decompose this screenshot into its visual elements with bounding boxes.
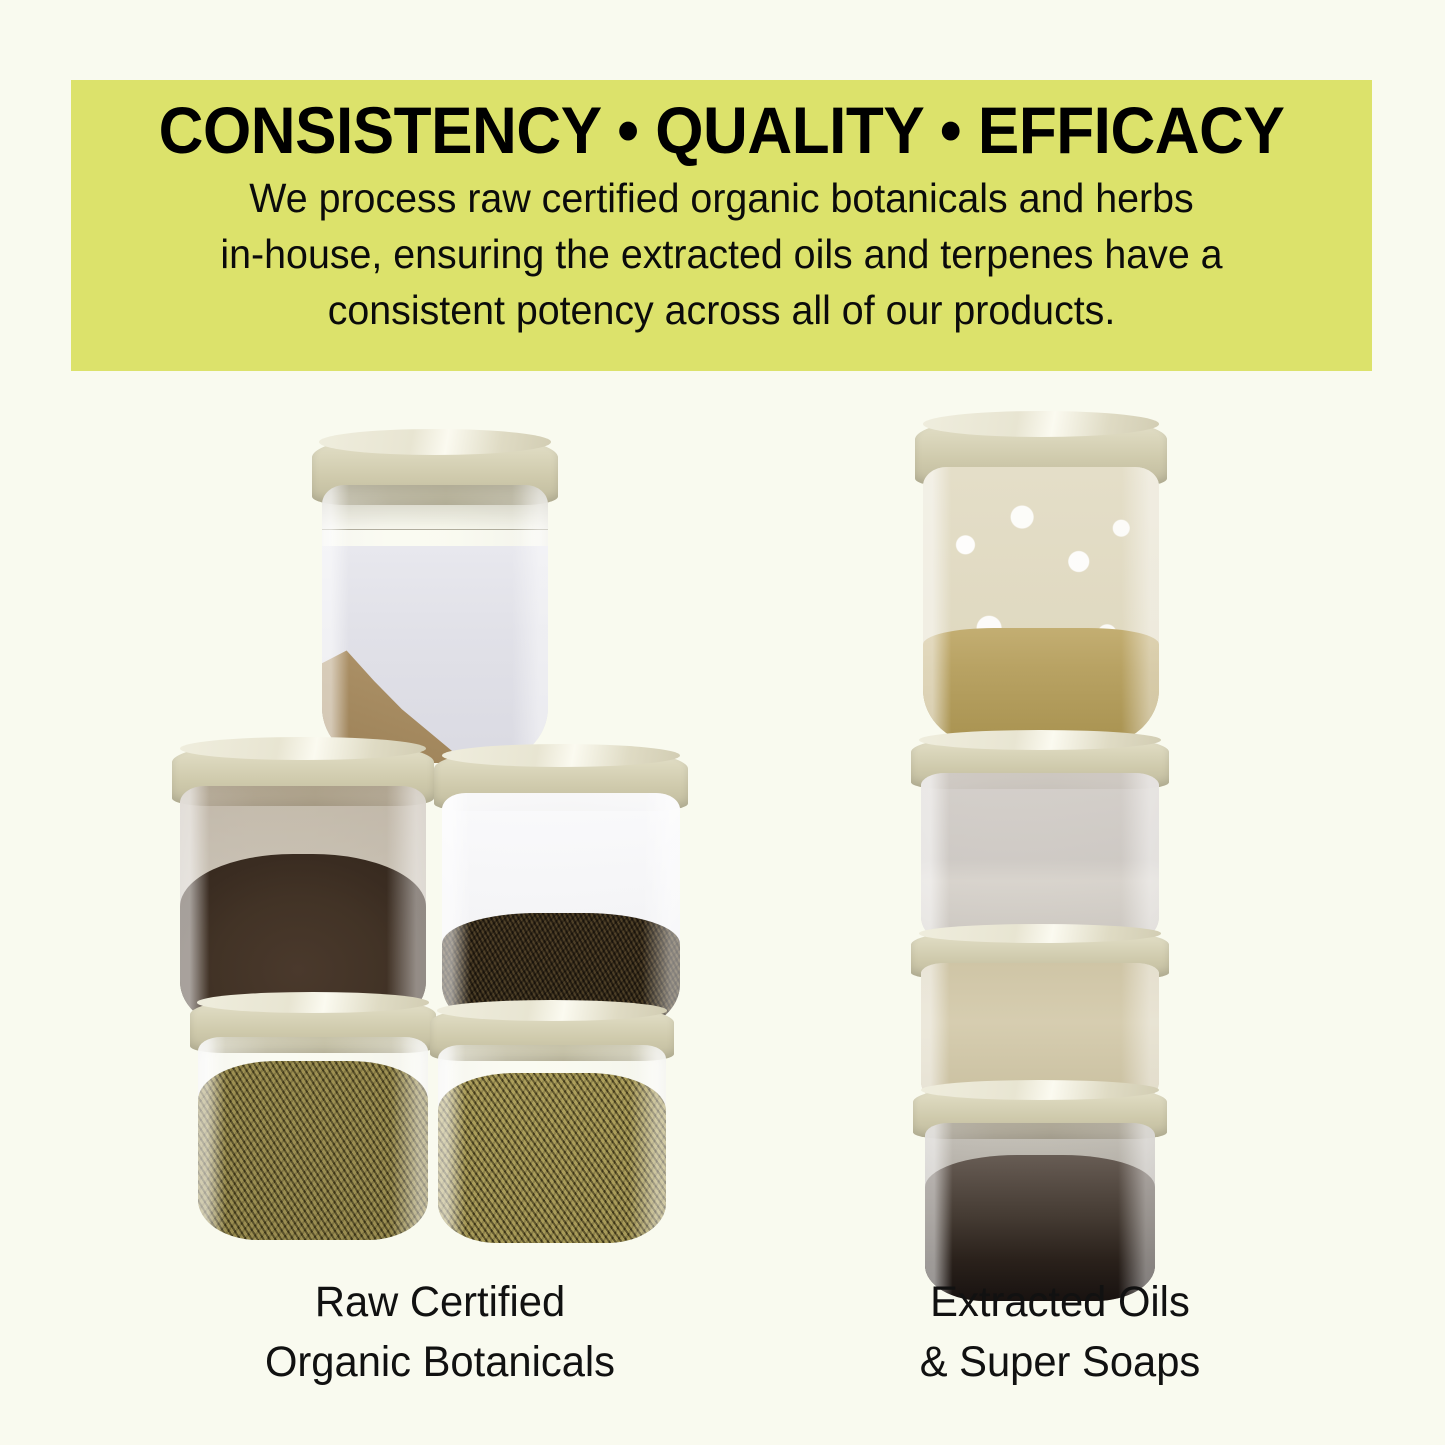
lid-top-surface — [197, 992, 428, 1013]
lid-top-surface — [437, 1000, 666, 1021]
jar-dark-extract — [913, 1083, 1167, 1301]
caption-line-1: Extracted Oils — [769, 1272, 1351, 1332]
jar-neck — [322, 485, 548, 530]
jar-glass — [198, 1037, 428, 1240]
lid-top-surface — [319, 429, 550, 455]
jar-contents-amber-liquid — [923, 628, 1159, 745]
lid-top-surface — [180, 737, 426, 761]
jar-glass — [438, 1045, 666, 1243]
header-banner: CONSISTENCY • QUALITY • EFFICACY We proc… — [71, 80, 1372, 371]
jar-foam-amber — [913, 415, 1169, 745]
jar-glass — [923, 467, 1159, 745]
lid-top-surface — [919, 730, 1162, 750]
jar-contents-rosemary — [438, 1073, 666, 1243]
caption-line-2: & Super Soaps — [769, 1332, 1351, 1392]
lid-top-surface — [921, 1080, 1160, 1100]
caption-extracted-oils: Extracted Oils & Super Soaps — [769, 1272, 1351, 1392]
banner-subtitle-line-3: consistent potency across all of our pro… — [107, 282, 1337, 338]
banner-subtitle-line-2: in-house, ensuring the extracted oils an… — [107, 226, 1337, 282]
jar-glass — [442, 793, 680, 1032]
caption-raw-botanicals: Raw Certified Organic Botanicals — [139, 1272, 740, 1392]
jar-glass — [322, 485, 548, 763]
jar-group-extracted-oils — [905, 415, 1175, 1240]
product-photos — [0, 395, 1445, 1265]
jar-mid-left-powder — [170, 740, 436, 1030]
lid-top-surface — [923, 411, 1160, 437]
banner-subtitle-line-1: We process raw certified organic botanic… — [107, 170, 1337, 226]
jar-mid-right-herb — [432, 747, 690, 1032]
banner-title: CONSISTENCY • QUALITY • EFFICACY — [119, 92, 1323, 168]
jar-contents-dried-herb — [198, 1061, 428, 1240]
lid-top-surface — [919, 924, 1162, 943]
lid-top-surface — [442, 744, 681, 767]
jar-group-raw-botanicals — [170, 395, 690, 1240]
jar-clear-gel — [911, 733, 1169, 953]
caption-line-2: Organic Botanicals — [139, 1332, 740, 1392]
caption-line-1: Raw Certified — [139, 1272, 740, 1332]
jar-bottom-left-herb — [188, 995, 438, 1240]
banner-subtitle: We process raw certified organic botanic… — [107, 170, 1337, 338]
jar-bottom-right-herb — [428, 1003, 676, 1243]
jar-top-powder — [310, 433, 560, 763]
product-infographic: CONSISTENCY • QUALITY • EFFICACY We proc… — [0, 0, 1445, 1445]
